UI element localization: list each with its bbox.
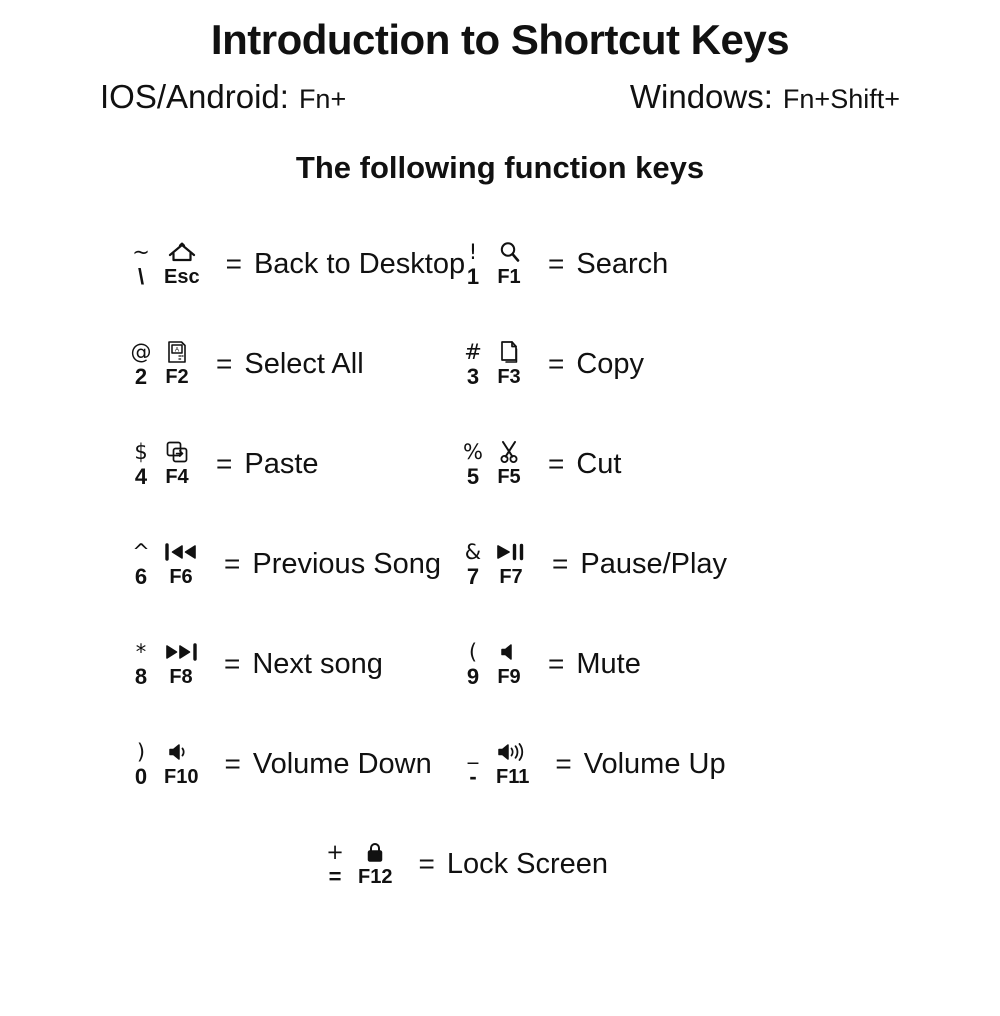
equals-sign: = <box>548 348 564 380</box>
number-key: (9 <box>460 639 486 689</box>
key-pair: +=F12 <box>322 839 392 889</box>
platform-ios-android-combo: Fn+ <box>299 84 346 115</box>
number-key: #3 <box>460 339 486 389</box>
platform-windows-combo: Fn+Shift+ <box>783 84 900 115</box>
number-key: += <box>322 839 348 889</box>
platform-ios-android-label: IOS/Android: <box>100 78 289 116</box>
equals-sign: = <box>226 248 242 280</box>
volume-up-icon <box>497 739 529 765</box>
number-key-char: 3 <box>467 365 479 389</box>
shortcut-item-f9[interactable]: (9F9=Mute <box>440 614 900 714</box>
key-pair: @2AF2 <box>128 339 190 389</box>
shortcut-action-label: Back to Desktop <box>254 248 465 281</box>
key-pair: !1F1 <box>460 239 522 289</box>
shortcut-action-label: Paste <box>244 448 318 481</box>
number-key-shifted-char: ( <box>469 639 477 665</box>
equals-sign: = <box>548 448 564 480</box>
lock-icon <box>366 839 384 865</box>
mute-icon <box>500 639 518 665</box>
number-key-shifted-char: # <box>464 339 482 365</box>
shortcut-item-f7[interactable]: &7F7=Pause/Play <box>440 514 900 614</box>
play-pause-icon <box>496 539 526 565</box>
number-key-char: 4 <box>135 465 147 489</box>
number-key: !1 <box>460 239 486 289</box>
function-key-icon-slot <box>499 439 519 465</box>
shortcut-item-f11[interactable]: _-F11=Volume Up <box>440 714 900 814</box>
shortcut-item-f8[interactable]: *8F8=Next song <box>0 614 440 714</box>
equals-sign: = <box>216 448 232 480</box>
shortcut-action-label: Previous Song <box>252 548 441 581</box>
shortcut-item-f6[interactable]: ^6F6=Previous Song <box>0 514 440 614</box>
equals-sign: = <box>224 748 240 780</box>
shortcut-item-f4[interactable]: $4F4=Paste <box>0 414 440 514</box>
shortcut-item-f12[interactable]: +=F12=Lock Screen <box>0 814 1000 914</box>
number-key-char: 9 <box>467 665 479 689</box>
number-key-shifted-char: ~ <box>132 239 150 265</box>
shortcut-action-label: Pause/Play <box>580 548 727 581</box>
function-key-icon-slot <box>165 439 189 465</box>
key-pair: ~\Esc <box>128 239 200 289</box>
shortcut-action-label: Next song <box>252 648 383 681</box>
function-key-icon-slot <box>168 739 194 765</box>
equals-sign: = <box>418 848 434 880</box>
function-key: Esc <box>164 239 200 289</box>
platform-row: IOS/Android: Fn+ Windows: Fn+Shift+ <box>0 64 1000 116</box>
function-key: F6 <box>164 539 198 589</box>
key-pair: #3F3 <box>460 339 522 389</box>
shortcut-item-esc[interactable]: ~\Esc=Back to Desktop <box>0 214 440 314</box>
key-pair: (9F9 <box>460 639 522 689</box>
function-key-label: F8 <box>169 665 192 689</box>
function-key-label: F2 <box>165 365 188 389</box>
equals-sign: = <box>224 648 240 680</box>
number-key-char: \ <box>138 265 144 289</box>
number-key-char: 7 <box>467 565 479 589</box>
number-key-shifted-char: & <box>465 539 481 565</box>
number-key-char: 1 <box>467 265 479 289</box>
function-key-icon-slot <box>498 339 520 365</box>
number-key-shifted-char: ) <box>137 739 145 765</box>
platform-windows-label: Windows: <box>630 78 773 116</box>
page-subtitle: The following function keys <box>0 150 1000 186</box>
function-key-label: F6 <box>169 565 192 589</box>
function-key: F7 <box>496 539 526 589</box>
key-pair: ^6F6 <box>128 539 198 589</box>
function-key: F11 <box>496 739 529 789</box>
paste-icon <box>165 439 189 465</box>
shortcut-row: )0F10=Volume Down_-F11=Volume Up <box>0 714 1000 814</box>
function-key: F8 <box>164 639 198 689</box>
key-pair: )0F10 <box>128 739 198 789</box>
number-key-shifted-char: + <box>326 839 344 865</box>
shortcut-item-f1[interactable]: !1F1=Search <box>440 214 900 314</box>
shortcut-action-label: Search <box>576 248 668 281</box>
shortcut-action-label: Select All <box>244 348 363 381</box>
function-key-icon-slot <box>497 739 529 765</box>
function-key-icon-slot <box>496 539 526 565</box>
function-key-label: F10 <box>164 765 198 789</box>
shortcut-action-label: Copy <box>576 348 644 381</box>
equals-sign: = <box>548 248 564 280</box>
function-key-icon-slot <box>500 639 518 665</box>
scissors-icon <box>499 439 519 465</box>
function-key-icon-slot <box>164 639 198 665</box>
key-pair: &7F7 <box>460 539 526 589</box>
select-all-icon: A <box>166 339 188 365</box>
number-key: _- <box>460 739 486 789</box>
shortcut-row: $4F4=Paste%5F5=Cut <box>0 414 1000 514</box>
equals-sign: = <box>548 648 564 680</box>
shortcut-row: +=F12=Lock Screen <box>0 814 1000 914</box>
function-key-icon-slot: A <box>166 339 188 365</box>
number-key: *8 <box>128 639 154 689</box>
shortcut-grid: ~\Esc=Back to Desktop!1F1=Search@2AF2=Se… <box>0 214 1000 914</box>
shortcut-row: ~\Esc=Back to Desktop!1F1=Search <box>0 214 1000 314</box>
platform-ios-android: IOS/Android: Fn+ <box>100 78 346 116</box>
number-key-shifted-char: * <box>136 639 147 665</box>
number-key-shifted-char: % <box>463 439 483 465</box>
key-pair: %5F5 <box>460 439 522 489</box>
function-key-label: F7 <box>499 565 522 589</box>
number-key: &7 <box>460 539 486 589</box>
shortcut-item-f3[interactable]: #3F3=Copy <box>440 314 900 414</box>
function-key-label: F5 <box>497 465 520 489</box>
equals-sign: = <box>552 548 568 580</box>
function-key-label: F1 <box>497 265 520 289</box>
number-key: )0 <box>128 739 154 789</box>
number-key: ~\ <box>128 239 154 289</box>
function-key-icon-slot <box>167 239 197 265</box>
function-key-icon-slot <box>366 839 384 865</box>
function-key-label: Esc <box>164 265 200 289</box>
shortcut-item-f5[interactable]: %5F5=Cut <box>440 414 900 514</box>
function-key-label: F11 <box>496 765 529 789</box>
number-key-char: 6 <box>135 565 147 589</box>
shortcut-item-f2[interactable]: @2AF2=Select All <box>0 314 440 414</box>
function-key: F4 <box>164 439 190 489</box>
home-icon <box>167 239 197 265</box>
equals-sign: = <box>216 348 232 380</box>
number-key: $4 <box>128 439 154 489</box>
shortcut-row: *8F8=Next song(9F9=Mute <box>0 614 1000 714</box>
shortcut-action-label: Cut <box>576 448 621 481</box>
previous-track-icon <box>164 539 198 565</box>
key-pair: *8F8 <box>128 639 198 689</box>
number-key-shifted-char: ! <box>469 239 477 265</box>
svg-text:A: A <box>175 347 180 354</box>
key-pair: _-F11 <box>460 739 529 789</box>
number-key-char: - <box>469 765 476 789</box>
platform-windows: Windows: Fn+Shift+ <box>630 78 900 116</box>
function-key: F1 <box>496 239 522 289</box>
equals-sign: = <box>224 548 240 580</box>
function-key-label: F9 <box>497 665 520 689</box>
function-key-label: F4 <box>165 465 188 489</box>
number-key-char: 2 <box>135 365 147 389</box>
copy-icon <box>498 339 520 365</box>
function-key: F5 <box>496 439 522 489</box>
shortcut-action-label: Lock Screen <box>447 848 608 881</box>
function-key: F3 <box>496 339 522 389</box>
volume-down-icon <box>168 739 194 765</box>
next-track-icon <box>164 639 198 665</box>
function-key-icon-slot <box>164 539 198 565</box>
number-key-char: 0 <box>135 765 147 789</box>
shortcut-action-label: Mute <box>576 648 640 681</box>
number-key-shifted-char: _ <box>468 739 479 765</box>
number-key-char: = <box>329 865 342 889</box>
function-key-label: F12 <box>358 865 392 889</box>
search-icon <box>498 239 520 265</box>
shortcut-row: @2AF2=Select All#3F3=Copy <box>0 314 1000 414</box>
shortcut-row: ^6F6=Previous Song&7F7=Pause/Play <box>0 514 1000 614</box>
key-pair: $4F4 <box>128 439 190 489</box>
function-key: F12 <box>358 839 392 889</box>
number-key: ^6 <box>128 539 154 589</box>
number-key-char: 5 <box>467 465 479 489</box>
function-key: F10 <box>164 739 198 789</box>
equals-sign: = <box>555 748 571 780</box>
shortcut-item-f10[interactable]: )0F10=Volume Down <box>0 714 440 814</box>
number-key-shifted-char: ^ <box>132 539 150 565</box>
shortcut-action-label: Volume Down <box>253 748 432 781</box>
number-key: %5 <box>460 439 486 489</box>
shortcut-action-label: Volume Up <box>584 748 726 781</box>
number-key-char: 8 <box>135 665 147 689</box>
number-key-shifted-char: $ <box>134 439 147 465</box>
number-key-shifted-char: @ <box>131 339 152 365</box>
function-key: F9 <box>496 639 522 689</box>
function-key-label: F3 <box>497 365 520 389</box>
number-key: @2 <box>128 339 154 389</box>
function-key: AF2 <box>164 339 190 389</box>
page-title: Introduction to Shortcut Keys <box>0 16 1000 64</box>
function-key-icon-slot <box>498 239 520 265</box>
